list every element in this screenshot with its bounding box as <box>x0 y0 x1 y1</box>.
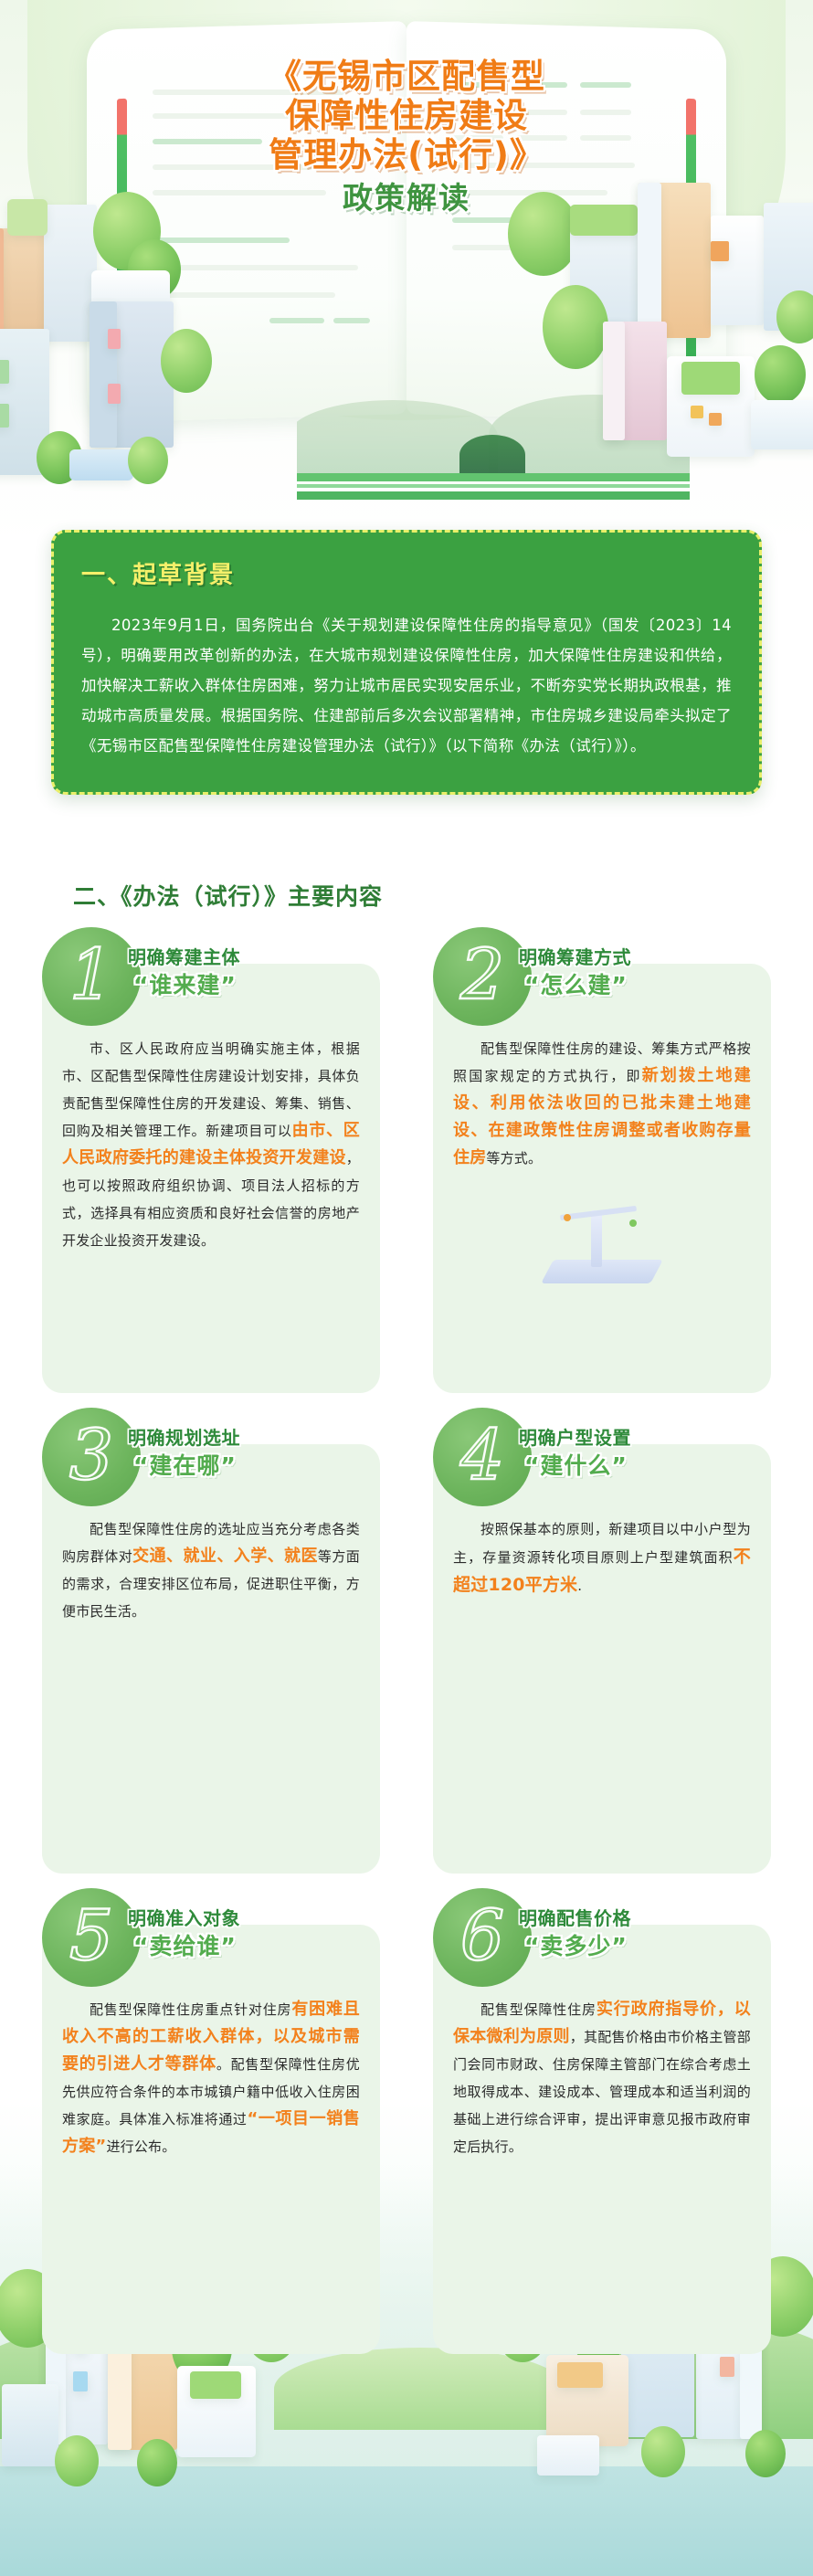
card-3-body: 配售型保障性住房的选址应当充分考虑各类购房群体对交通、就业、入学、就医等方面的需… <box>62 1515 360 1625</box>
page-title-line-2: 保障性住房建设 <box>0 96 813 135</box>
card-5-header: 5 明确准入对象 “卖给谁” <box>37 1888 375 1998</box>
card-6-body: 配售型保障性住房实行政府指导价，以保本微利为原则，其配售价格由市价格主管部门会同… <box>453 1996 751 2160</box>
page-title-line-1: 《无锡市区配售型 <box>0 57 813 96</box>
city-cluster-right <box>502 183 813 557</box>
card-5-titles: 明确准入对象 “卖给谁” <box>128 1906 356 1960</box>
card-5-number-circle <box>42 1888 141 1987</box>
card-5-number: 5 <box>42 1888 141 1987</box>
card-2-title-quote: “怎么建” <box>524 972 747 999</box>
section-1-body: 2023年9月1日，国务院出台《关于规划建设保障性住房的指导意见》（国发〔202… <box>81 610 732 761</box>
page-title-line-3: 管理办法(试行)》 <box>0 135 813 174</box>
card-1-header: 1 明确筹建主体 “谁来建” <box>37 927 375 1037</box>
card-4-number-circle <box>433 1408 532 1506</box>
page-title-block: 《无锡市区配售型 保障性住房建设 管理办法(试行)》 政策解读 <box>0 57 813 216</box>
card-2-body-post: 等方式。 <box>486 1150 542 1167</box>
card-3-body-highlight: 交通、就业、入学、就医 <box>132 1547 318 1566</box>
card-4-title-quote: “建什么” <box>524 1452 747 1480</box>
card-5-body-pre: 配售型保障性住房重点针对住房 <box>90 2001 291 2018</box>
card-1-title-quote: “谁来建” <box>133 972 356 999</box>
card-3-title-quote: “建在哪” <box>133 1452 356 1480</box>
card-2-header: 2 明确筹建方式 “怎么建” <box>428 927 765 1037</box>
card-3-number-circle <box>42 1408 141 1506</box>
card-3-title-main: 明确规划选址 <box>128 1426 356 1450</box>
card-6-number: 6 <box>433 1888 532 1987</box>
card-1-titles: 明确筹建主体 “谁来建” <box>128 945 356 999</box>
infographic-page: 《无锡市区配售型 保障性住房建设 管理办法(试行)》 政策解读 一、起草背景 2… <box>0 0 813 2576</box>
card-1-body: 市、区人民政府应当明确实施主体，根据市、区配售型保障性住房建设计划安排，具体负责… <box>62 1035 360 1254</box>
card-4-title-main: 明确户型设置 <box>519 1426 747 1450</box>
content-card-1: 1 明确筹建主体 “谁来建” 市、区人民政府应当明确实施主体，根据市、区配售型保… <box>42 964 380 1393</box>
card-1-number: 1 <box>42 927 141 1026</box>
card-6-number-circle <box>433 1888 532 1987</box>
section-1-panel: 一、起草背景 2023年9月1日，国务院出台《关于规划建设保障性住房的指导意见》… <box>51 530 762 795</box>
content-card-3: 3 明确规划选址 “建在哪” 配售型保障性住房的选址应当充分考虑各类购房群体对交… <box>42 1444 380 1874</box>
page-subtitle: 政策解读 <box>0 181 813 216</box>
card-5-title-quote: “卖给谁” <box>133 1933 356 1960</box>
card-4-titles: 明确户型设置 “建什么” <box>519 1426 747 1480</box>
content-card-5: 5 明确准入对象 “卖给谁” 配售型保障性住房重点针对住房有困难且收入不高的工薪… <box>42 1925 380 2354</box>
card-3-number: 3 <box>42 1408 141 1506</box>
card-2-body: 配售型保障性住房的建设、筹集方式严格按照国家规定的方式执行，即新划拨土地建设、利… <box>453 1035 751 1172</box>
card-6-header: 6 明确配售价格 “卖多少” <box>428 1888 765 1998</box>
card-6-body-post: ，其配售价格由市价格主管部门会同市财政、住房保障主管部门在综合考虑土地取得成本、… <box>453 2029 751 2155</box>
card-2-number: 2 <box>433 927 532 1026</box>
card-4-body: 按照保基本的原则，新建项目以中小户型为主，存量资源转化项目原则上户型建筑面积不超… <box>453 1515 751 1599</box>
card-4-body-post: . <box>577 1578 582 1594</box>
section-2-heading: 二、《办法（试行）》主要内容 <box>73 879 383 912</box>
content-card-2: 2 明确筹建方式 “怎么建” 配售型保障性住房的建设、筹集方式严格按照国家规定的… <box>433 964 771 1393</box>
construction-crane-icon <box>520 1187 684 1287</box>
card-4-number: 4 <box>433 1408 532 1506</box>
card-5-body-post-2: 进行公布。 <box>106 2138 175 2155</box>
card-4-body-pre: 按照保基本的原则，新建项目以中小户型为主，存量资源转化项目原则上户型建筑面积 <box>453 1521 751 1566</box>
card-4-header: 4 明确户型设置 “建什么” <box>428 1408 765 1517</box>
card-2-number-circle <box>433 927 532 1026</box>
card-1-title-main: 明确筹建主体 <box>128 945 356 969</box>
card-6-title-main: 明确配售价格 <box>519 1906 747 1930</box>
card-5-body: 配售型保障性住房重点针对住房有困难且收入不高的工薪收入群体，以及城市需要的引进人… <box>62 1996 360 2160</box>
content-card-4: 4 明确户型设置 “建什么” 按照保基本的原则，新建项目以中小户型为主，存量资源… <box>433 1444 771 1874</box>
card-1-number-circle <box>42 927 141 1026</box>
card-3-header: 3 明确规划选址 “建在哪” <box>37 1408 375 1517</box>
content-card-6: 6 明确配售价格 “卖多少” 配售型保障性住房实行政府指导价，以保本微利为原则，… <box>433 1925 771 2354</box>
card-6-titles: 明确配售价格 “卖多少” <box>519 1906 747 1960</box>
section-1-title: 一、起草背景 <box>81 556 732 590</box>
city-cluster-left <box>0 192 292 557</box>
content-card-grid: 1 明确筹建主体 “谁来建” 市、区人民政府应当明确实施主体，根据市、区配售型保… <box>42 964 773 2354</box>
card-2-titles: 明确筹建方式 “怎么建” <box>519 945 747 999</box>
card-2-title-main: 明确筹建方式 <box>519 945 747 969</box>
card-6-body-pre: 配售型保障性住房 <box>480 2001 597 2018</box>
card-3-titles: 明确规划选址 “建在哪” <box>128 1426 356 1480</box>
card-6-title-quote: “卖多少” <box>524 1933 747 1960</box>
card-5-title-main: 明确准入对象 <box>128 1906 356 1930</box>
